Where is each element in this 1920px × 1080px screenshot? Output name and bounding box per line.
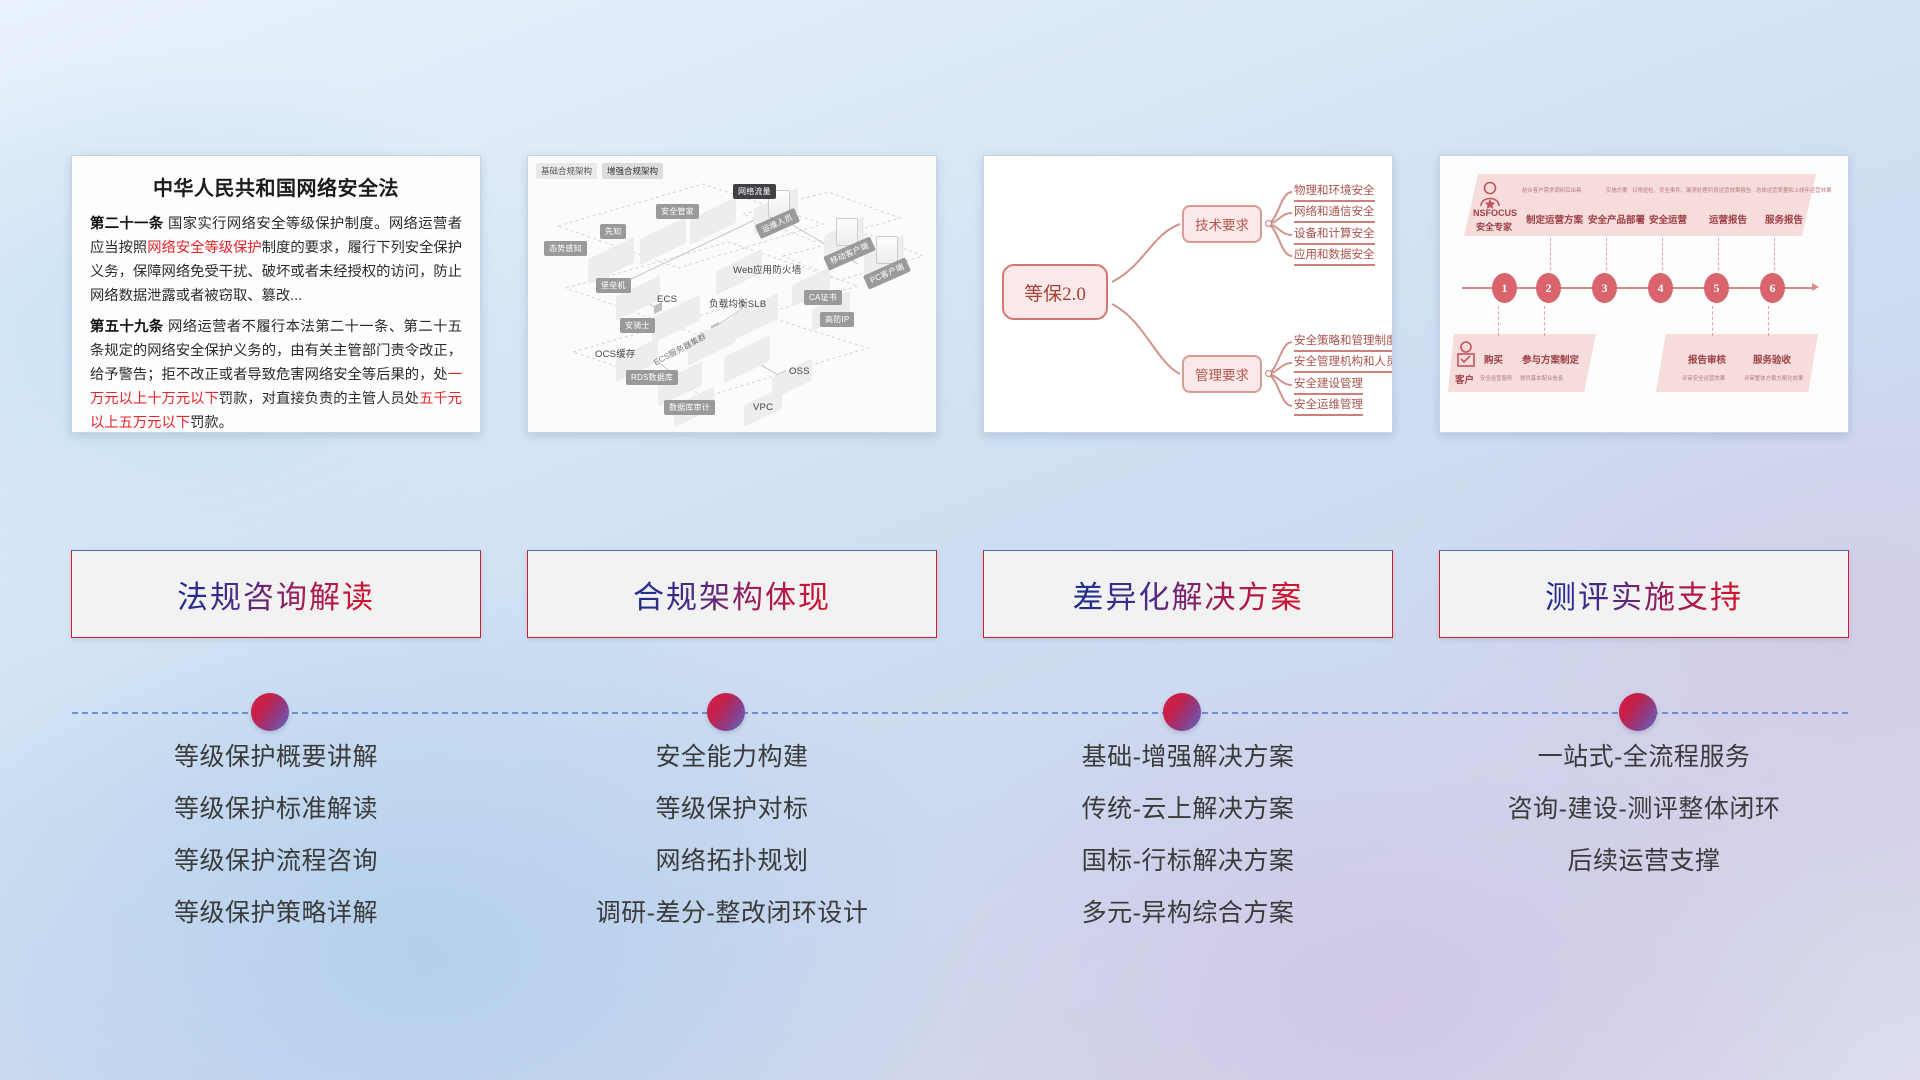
mindmap-leaf: 安全建设管理	[1294, 375, 1363, 395]
detail-item: 等级保护流程咨询	[71, 849, 481, 874]
detail-item: 国标-行标解决方案	[983, 849, 1393, 874]
arch-label: CA证书	[804, 290, 842, 305]
arch-label: OCS缓存	[590, 344, 641, 362]
section-details-2: 安全能力构建 等级保护对标 网络拓扑规划 调研-差分-整改闭环设计	[527, 745, 937, 953]
timeline-bottom-sub: 提供基本配合信息	[1520, 374, 1563, 382]
timeline-step[interactable]: 3	[1592, 273, 1617, 303]
mindmap-leaf: 安全策略和管理制度	[1294, 332, 1393, 352]
arch-label: Web应用防火墙	[728, 260, 806, 278]
section-title-box-4[interactable]: 测评实施支持	[1439, 550, 1849, 638]
detail-item: 后续运营支撑	[1439, 849, 1849, 874]
customer-role-label: 客户	[1455, 372, 1474, 386]
timeline-connector	[1718, 238, 1719, 270]
timeline-dashed-line	[72, 712, 1848, 714]
timeline-connector	[1544, 306, 1545, 336]
customer-person-icon	[1454, 340, 1478, 370]
law-article-21: 第二十一条 国家实行网络安全等级保护制度。网络运营者应当按照网络安全等级保护制度…	[90, 212, 462, 308]
arch-label: RDS数据库	[626, 370, 678, 385]
mindmap-root-node[interactable]: 等保2.0	[1002, 264, 1108, 320]
section-details-row: 等级保护概要讲解 等级保护标准解读 等级保护流程咨询 等级保护策略详解 安全能力…	[0, 745, 1920, 953]
detail-item: 多元-异构综合方案	[983, 901, 1393, 926]
detail-item: 基础-增强解决方案	[983, 745, 1393, 770]
timeline-connector	[1550, 238, 1551, 270]
server-icon	[876, 236, 898, 264]
timeline-connector	[1712, 306, 1713, 336]
timeline-marker-4[interactable]	[1619, 693, 1657, 731]
timeline-top-sub: 阶段运营效果报告	[1708, 186, 1751, 194]
timeline-marker-2[interactable]	[707, 693, 745, 731]
section-title-label: 测评实施支持	[1545, 572, 1743, 617]
arch-label: 堡垒机	[596, 278, 631, 293]
timeline-bottom-sub: 评审整体方案方案化效果	[1744, 374, 1803, 382]
architecture-preview-card[interactable]: 基础合规架构 增强合规架构	[527, 155, 937, 433]
detail-item: 调研-差分-整改闭环设计	[527, 901, 937, 926]
detail-item: 等级保护概要讲解	[71, 745, 481, 770]
timeline-step[interactable]: 2	[1536, 273, 1561, 303]
timeline-top-label: 服务报告	[1765, 212, 1803, 226]
detail-item: 等级保护标准解读	[71, 797, 481, 822]
timeline-connector	[1768, 306, 1769, 336]
timeline-top-sub: 日常巡检、安全事件、漏洞处理	[1632, 186, 1707, 194]
preview-cards-row: 中华人民共和国网络安全法 第二十一条 国家实行网络安全等级保护制度。网络运营者应…	[0, 155, 1920, 435]
detail-item: 安全能力构建	[527, 745, 937, 770]
detail-item: 咨询-建设-测评整体闭环	[1439, 797, 1849, 822]
timeline-connector	[1774, 238, 1775, 270]
timeline-connector	[1606, 238, 1607, 270]
timeline-connector	[1662, 238, 1663, 270]
timeline-bottom-label: 参与方案制定	[1522, 352, 1579, 366]
timeline-bottom-sub: 安全运营服务	[1480, 374, 1512, 382]
arch-label: 安全管家	[656, 204, 699, 219]
expert-person-icon	[1476, 180, 1504, 210]
detail-item: 等级保护对标	[527, 797, 937, 822]
mindmap-branch-technical[interactable]: 技术要求	[1182, 205, 1262, 243]
section-title-label: 差异化解决方案	[1073, 572, 1304, 617]
article-59-label: 第五十九条	[90, 319, 164, 335]
mindmap-leaf: 物理和环境安全	[1294, 182, 1375, 202]
timeline-top-label: 安全产品部署	[1588, 212, 1645, 226]
timeline-step[interactable]: 5	[1704, 273, 1729, 303]
collapse-toggle-icon[interactable]	[1265, 370, 1272, 377]
timeline-connector	[1498, 306, 1499, 336]
law-preview-card[interactable]: 中华人民共和国网络安全法 第二十一条 国家实行网络安全等级保护制度。网络运营者应…	[71, 155, 481, 433]
arch-label: ECS	[652, 292, 682, 307]
timeline-bottom-sub: 评审安全运营效果	[1682, 374, 1725, 382]
timeline-step[interactable]: 4	[1648, 273, 1673, 303]
service-timeline-preview-card[interactable]: NSFOCUS 安全专家 结合客户需求调研后出具 制定运营方案 实施方案 安全产…	[1439, 155, 1849, 433]
article-21-highlight: 网络安全等级保护	[147, 240, 261, 256]
timeline-bottom-label: 购买	[1484, 352, 1503, 366]
arch-label: VPC	[748, 400, 778, 415]
timeline-marker-1[interactable]	[251, 693, 289, 731]
mindmap-leaf: 安全管理机构和人员	[1294, 353, 1393, 373]
section-title-box-1[interactable]: 法规咨询解读	[71, 550, 481, 638]
timeline-step[interactable]: 6	[1760, 273, 1785, 303]
article-21-label: 第二十一条	[90, 216, 164, 232]
detail-item: 等级保护策略详解	[71, 901, 481, 926]
arch-label: 数据库审计	[664, 400, 715, 415]
expert-role-line1: NSFOCUS	[1473, 208, 1517, 218]
arch-label: 高防IP	[820, 312, 854, 327]
detail-item: 一站式-全流程服务	[1439, 745, 1849, 770]
section-details-1: 等级保护概要讲解 等级保护标准解读 等级保护流程咨询 等级保护策略详解	[71, 745, 481, 953]
arch-label: OSS	[784, 364, 815, 379]
arch-label: 态势感知	[544, 241, 587, 256]
law-article-59: 第五十九条 网络运营者不履行本法第二十一条、第二十五条规定的网络安全保护义务的，…	[90, 315, 462, 433]
detail-item: 传统-云上解决方案	[983, 797, 1393, 822]
article-59-text-3: 罚款。	[190, 415, 233, 431]
timeline-bottom-band-right	[1656, 334, 1818, 392]
section-details-3: 基础-增强解决方案 传统-云上解决方案 国标-行标解决方案 多元-异构综合方案	[983, 745, 1393, 953]
section-details-4: 一站式-全流程服务 咨询-建设-测评整体闭环 后续运营支撑	[1439, 745, 1849, 953]
expert-role-line2: 安全专家	[1476, 220, 1512, 233]
section-title-label: 合规架构体现	[633, 572, 831, 617]
timeline-top-label: 制定运营方案	[1526, 212, 1583, 226]
arch-label: 负载均衡SLB	[704, 294, 771, 312]
section-title-box-2[interactable]: 合规架构体现	[527, 550, 937, 638]
timeline-top-band	[1464, 174, 1816, 236]
timeline-step[interactable]: 1	[1492, 273, 1517, 303]
mindmap-leaf: 应用和数据安全	[1294, 246, 1375, 266]
article-59-text-2: 罚款，对直接负责的主管人员处	[219, 391, 419, 407]
section-title-label: 法规咨询解读	[177, 572, 375, 617]
timeline-top-sub: 总体运营质量和上线年运营效果	[1756, 186, 1831, 194]
timeline-top-sub: 实施方案	[1606, 186, 1628, 194]
mindmap-leaf: 安全运维管理	[1294, 396, 1363, 416]
timeline-bottom-label: 报告审核	[1688, 352, 1726, 366]
timeline-top-label: 运营报告	[1709, 212, 1747, 226]
arch-label: 网络流量	[733, 184, 776, 199]
law-card-title: 中华人民共和国网络安全法	[90, 172, 462, 201]
timeline-top-sub: 结合客户需求调研后出具	[1522, 186, 1581, 194]
timeline-arrow-icon	[1812, 283, 1819, 291]
arch-label: 先知	[600, 224, 626, 239]
timeline-bottom-label: 服务验收	[1753, 352, 1791, 366]
timeline-marker-3[interactable]	[1163, 693, 1201, 731]
detail-item: 网络拓扑规划	[527, 849, 937, 874]
mindmap-branch-management[interactable]: 管理要求	[1182, 355, 1262, 393]
section-title-box-3[interactable]: 差异化解决方案	[983, 550, 1393, 638]
timeline-top-label: 安全运营	[1649, 212, 1687, 226]
section-titles-row: 法规咨询解读 合规架构体现 差异化解决方案 测评实施支持	[0, 550, 1920, 638]
section-timeline	[0, 693, 1920, 733]
mindmap-preview-card[interactable]: 等保2.0 技术要求 物理和环境安全 网络和通信安全 设备和计算安全 应用和数据…	[983, 155, 1393, 433]
collapse-toggle-icon[interactable]	[1265, 220, 1272, 227]
mindmap-leaf: 设备和计算安全	[1294, 225, 1375, 245]
arch-label: 安骑士	[620, 318, 655, 333]
mindmap-leaf: 网络和通信安全	[1294, 203, 1375, 223]
